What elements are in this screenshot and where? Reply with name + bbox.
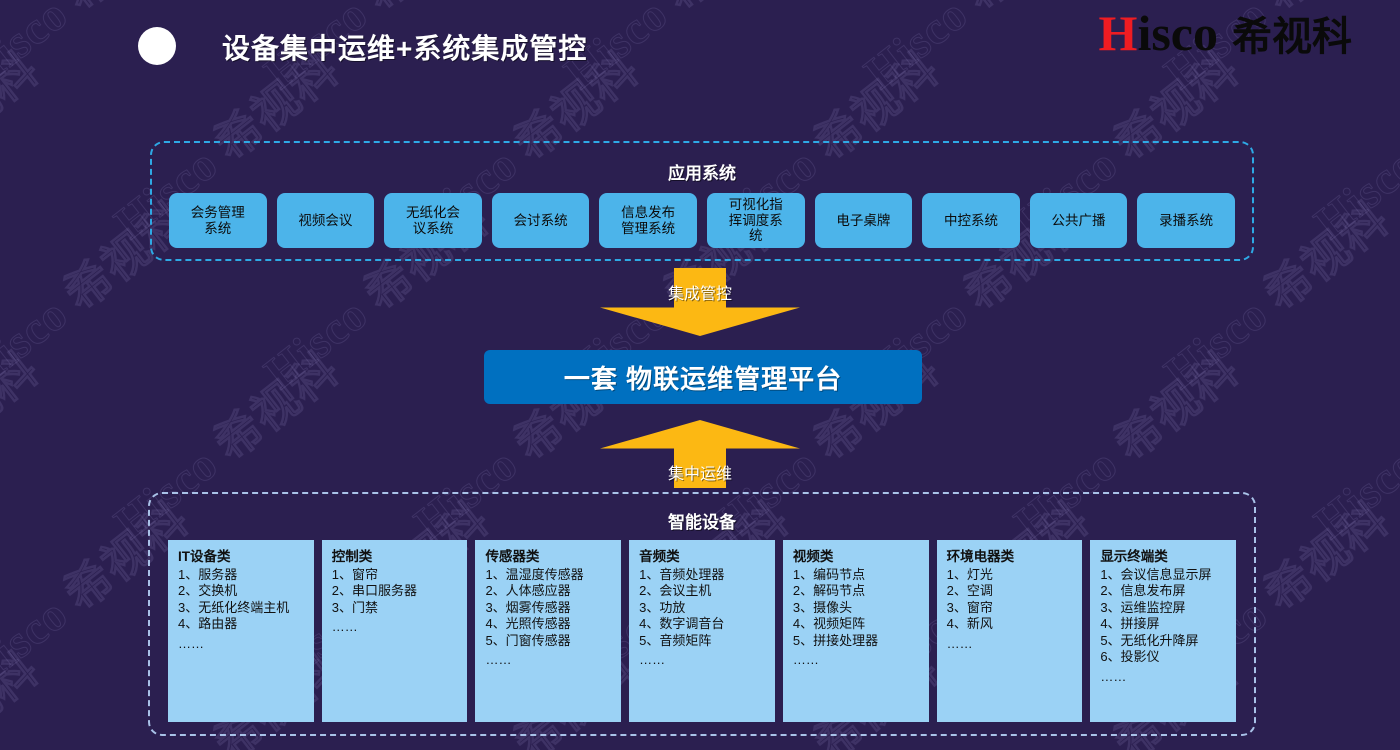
application-system-box[interactable]: 视频会议 (277, 193, 375, 248)
device-list-item: 1、会议信息显示屏 (1100, 567, 1228, 584)
application-system-box[interactable]: 无纸化会 议系统 (384, 193, 482, 248)
device-list-item: 1、编码节点 (793, 567, 921, 584)
device-list-item: 4、光照传感器 (485, 616, 613, 633)
smart-devices-row: IT设备类1、服务器2、交换机3、无纸化终端主机4、路由器……控制类1、窗帘2、… (164, 540, 1240, 722)
device-list-item: 2、会议主机 (639, 583, 767, 600)
device-list-item: 3、烟雾传感器 (485, 600, 613, 617)
page-header: 设备集中运维+系统集成管控 Hisco 希视科 (0, 0, 1400, 92)
device-list-item: 2、交换机 (178, 583, 306, 600)
device-category-title: 控制类 (332, 549, 460, 566)
device-list-item: 3、无纸化终端主机 (178, 600, 306, 617)
watermark-text: Hisco 希视科 (0, 334, 50, 551)
logo-letters-isco: isco (1137, 5, 1218, 61)
application-systems-row: 会务管理 系统视频会议无纸化会 议系统会讨系统信息发布 管理系统可视化指 挥调度… (164, 193, 1240, 248)
integration-arrow-label: 集成管控 (600, 280, 800, 304)
application-system-box[interactable]: 可视化指 挥调度系 统 (707, 193, 805, 248)
device-list-item: 3、窗帘 (947, 600, 1075, 617)
brand-logo: Hisco 希视科 (1099, 8, 1352, 58)
operations-arrow-up: 集中运维 (600, 420, 800, 488)
watermark-text: Hisco 希视科 (0, 634, 50, 750)
device-category-card[interactable]: 环境电器类1、灯光2、空调3、窗帘4、新风…… (937, 540, 1083, 722)
device-list-item: 5、门窗传感器 (485, 633, 613, 650)
device-list-item: 2、串口服务器 (332, 583, 460, 600)
device-category-title: 视频类 (793, 549, 921, 566)
platform-banner: 一套 物联运维管理平台 (484, 350, 922, 404)
application-systems-group: 应用系统 会务管理 系统视频会议无纸化会 议系统会讨系统信息发布 管理系统可视化… (150, 141, 1254, 261)
device-list-item: 2、信息发布屏 (1100, 583, 1228, 600)
device-category-title: 传感器类 (485, 549, 613, 566)
device-category-card[interactable]: 显示终端类1、会议信息显示屏2、信息发布屏3、运维监控屏4、拼接屏5、无纸化升降… (1090, 540, 1236, 722)
application-system-box[interactable]: 会务管理 系统 (169, 193, 267, 248)
device-list-item: 3、运维监控屏 (1100, 600, 1228, 617)
device-list-item: 5、无纸化升降屏 (1100, 633, 1228, 650)
device-category-card[interactable]: IT设备类1、服务器2、交换机3、无纸化终端主机4、路由器…… (168, 540, 314, 722)
device-list-ellipsis: …… (793, 652, 921, 669)
device-list-item: 3、门禁 (332, 600, 460, 617)
device-category-title: 环境电器类 (947, 549, 1075, 566)
integration-arrow-down: 集成管控 (600, 268, 800, 336)
device-category-card[interactable]: 控制类1、窗帘2、串口服务器3、门禁…… (322, 540, 468, 722)
device-list-item: 1、音频处理器 (639, 567, 767, 584)
application-system-box[interactable]: 电子桌牌 (815, 193, 913, 248)
device-list-item: 3、摄像头 (793, 600, 921, 617)
device-list-item: 4、新风 (947, 616, 1075, 633)
watermark-text: Hisco 希视科 (1298, 334, 1400, 551)
logo-letter-h: H (1099, 5, 1138, 61)
application-system-box[interactable]: 录播系统 (1137, 193, 1235, 248)
device-list-item: 5、音频矩阵 (639, 633, 767, 650)
device-category-title: 显示终端类 (1100, 549, 1228, 566)
device-list-item: 2、空调 (947, 583, 1075, 600)
watermark-text: Hisco 希视科 (1298, 634, 1400, 750)
device-list-item: 6、投影仪 (1100, 649, 1228, 666)
application-system-box[interactable]: 信息发布 管理系统 (599, 193, 697, 248)
logo-chinese-name: 希视科 (1232, 17, 1352, 57)
device-list-item: 3、功放 (639, 600, 767, 617)
operations-arrow-label: 集中运维 (600, 460, 800, 484)
page-title: 设备集中运维+系统集成管控 (222, 27, 587, 67)
device-list-item: 4、视频矩阵 (793, 616, 921, 633)
device-category-card[interactable]: 音频类1、音频处理器2、会议主机3、功放4、数字调音台5、音频矩阵…… (629, 540, 775, 722)
device-list-item: 2、解码节点 (793, 583, 921, 600)
device-list-ellipsis: …… (332, 619, 460, 636)
platform-label: 一套 物联运维管理平台 (564, 359, 842, 396)
device-list-item: 4、数字调音台 (639, 616, 767, 633)
device-category-card[interactable]: 传感器类1、温湿度传感器2、人体感应器3、烟雾传感器4、光照传感器5、门窗传感器… (475, 540, 621, 722)
smart-devices-title: 智能设备 (150, 508, 1254, 533)
application-systems-title: 应用系统 (152, 159, 1252, 184)
device-list-item: 2、人体感应器 (485, 583, 613, 600)
application-system-box[interactable]: 中控系统 (922, 193, 1020, 248)
device-list-item: 1、窗帘 (332, 567, 460, 584)
device-list-item: 5、拼接处理器 (793, 633, 921, 650)
device-list-ellipsis: …… (485, 652, 613, 669)
device-list-item: 4、拼接屏 (1100, 616, 1228, 633)
logo-wordmark: Hisco (1099, 8, 1218, 58)
application-system-box[interactable]: 会讨系统 (492, 193, 590, 248)
application-system-box[interactable]: 公共广播 (1030, 193, 1128, 248)
circle-bullet-icon (138, 27, 176, 65)
device-list-ellipsis: …… (1100, 669, 1228, 686)
device-category-title: IT设备类 (178, 549, 306, 566)
device-list-ellipsis: …… (947, 636, 1075, 653)
device-category-card[interactable]: 视频类1、编码节点2、解码节点3、摄像头4、视频矩阵5、拼接处理器…… (783, 540, 929, 722)
device-list-item: 1、服务器 (178, 567, 306, 584)
smart-devices-group: 智能设备 IT设备类1、服务器2、交换机3、无纸化终端主机4、路由器……控制类1… (148, 492, 1256, 736)
device-list-ellipsis: …… (178, 636, 306, 653)
device-category-title: 音频类 (639, 549, 767, 566)
device-list-item: 1、灯光 (947, 567, 1075, 584)
device-list-item: 4、路由器 (178, 616, 306, 633)
device-list-item: 1、温湿度传感器 (485, 567, 613, 584)
device-list-ellipsis: …… (639, 652, 767, 669)
